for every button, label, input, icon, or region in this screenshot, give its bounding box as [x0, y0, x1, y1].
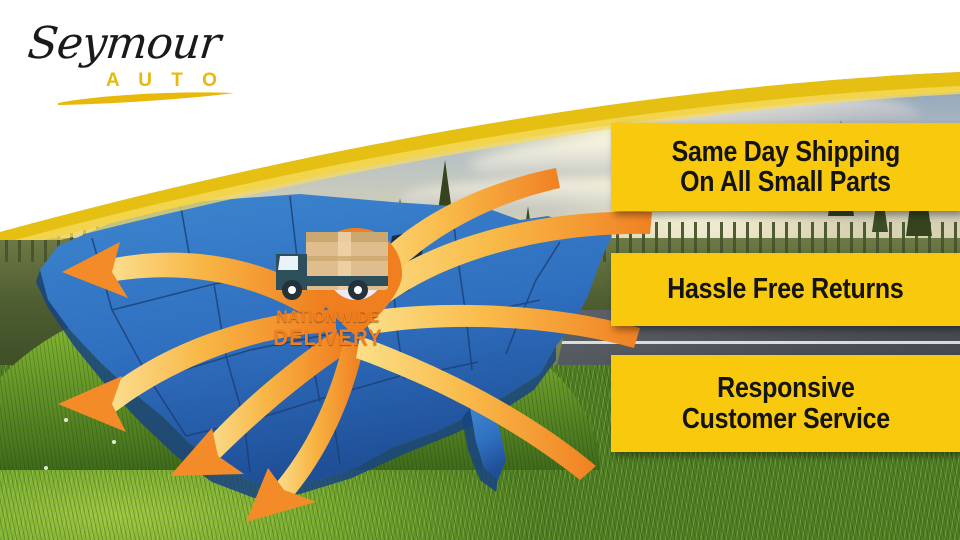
banner-same-day-shipping[interactable]: Same Day Shipping On All Small Parts — [611, 123, 960, 211]
logo-swoosh-icon — [56, 90, 236, 106]
brand-logo[interactable]: Seymour A U T O — [22, 12, 252, 104]
banner-line-1: Responsive — [717, 373, 854, 403]
delivery-label: DELIVERY — [264, 326, 393, 349]
banner-line-2: Customer Service — [682, 404, 890, 434]
promo-banner-stage: NATIONWIDE DELIVERY Seymour A U T O Same… — [0, 0, 960, 540]
brand-subtitle: A U T O — [106, 70, 224, 92]
banner-line-1: Hassle Free Returns — [667, 274, 903, 304]
banner-responsive-customer-service[interactable]: Responsive Customer Service — [611, 355, 960, 452]
banner-hassle-free-returns[interactable]: Hassle Free Returns — [611, 253, 960, 326]
nationwide-label: NATIONWIDE — [264, 308, 393, 326]
nationwide-delivery-caption: NATIONWIDE DELIVERY — [258, 308, 398, 349]
banner-line-1: Same Day Shipping — [671, 137, 899, 167]
banner-line-2: On All Small Parts — [680, 167, 891, 197]
brand-name: Seymour — [25, 18, 222, 69]
